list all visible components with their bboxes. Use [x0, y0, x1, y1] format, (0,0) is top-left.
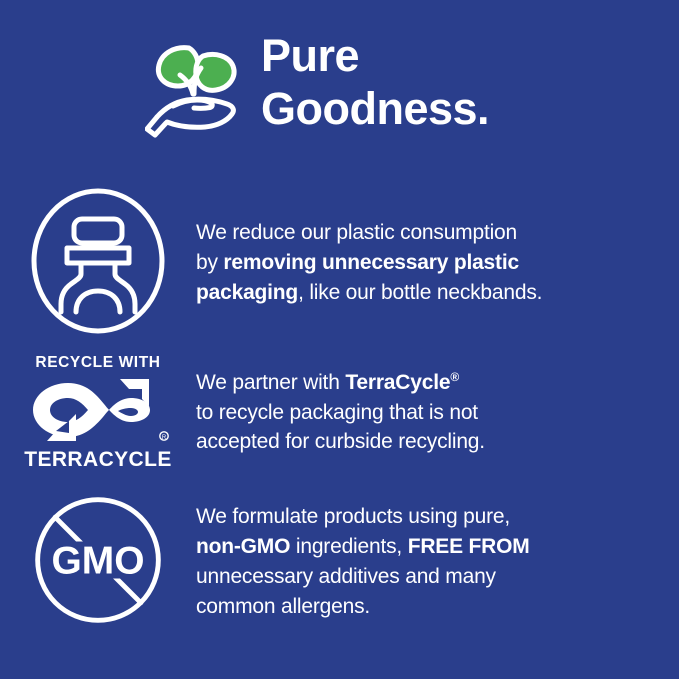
benefit-row-gmo: GMO We formulate products using pure,non… [0, 492, 679, 632]
pure-goodness-infographic: Pure Goodness. We reduce our plastic con… [0, 0, 679, 679]
text-line: We partner with TerraCycle® [196, 368, 665, 398]
icon-cell: RECYCLE WITH R TERRAC [0, 355, 196, 471]
text-line: packaging, like our bottle neckbands. [196, 278, 665, 308]
no-gmo-icon: GMO [25, 487, 171, 638]
text-line: We reduce our plastic consumption [196, 218, 665, 248]
text-line: to recycle packaging that is not [196, 398, 665, 428]
terracycle-logo: RECYCLE WITH R TERRAC [22, 355, 174, 471]
svg-text:R: R [162, 435, 167, 441]
recycle-infinity-loop-icon: R [23, 373, 173, 447]
benefit-text-plastic: We reduce our plastic consumptionby remo… [196, 218, 679, 307]
benefit-row-terracycle: RECYCLE WITH R TERRAC [0, 345, 679, 480]
benefit-text-gmo: We formulate products using pure,non-GMO… [196, 502, 679, 621]
text-line: accepted for curbside recycling. [196, 427, 665, 457]
icon-cell: GMO [0, 487, 196, 638]
terracycle-top-text: RECYCLE WITH [35, 355, 160, 371]
text-line: common allergens. [196, 592, 665, 622]
icon-cell [0, 186, 196, 341]
header: Pure Goodness. [0, 30, 679, 138]
terracycle-bottom-text: TERRACYCLE [24, 449, 172, 470]
benefit-text-terracycle: We partner with TerraCycle®to recycle pa… [196, 368, 679, 457]
text-line: We formulate products using pure, [196, 502, 665, 532]
page-title: Pure Goodness. [261, 30, 489, 135]
gmo-label: GMO [52, 539, 145, 582]
text-line: by removing unnecessary plastic [196, 248, 665, 278]
benefit-row-plastic: We reduce our plastic consumptionby remo… [0, 188, 679, 338]
hand-holding-sprout-icon [145, 34, 249, 138]
text-line: non-GMO ingredients, FREE FROM [196, 532, 665, 562]
text-line: unnecessary additives and many [196, 562, 665, 592]
bottle-in-circle-icon [23, 186, 173, 341]
